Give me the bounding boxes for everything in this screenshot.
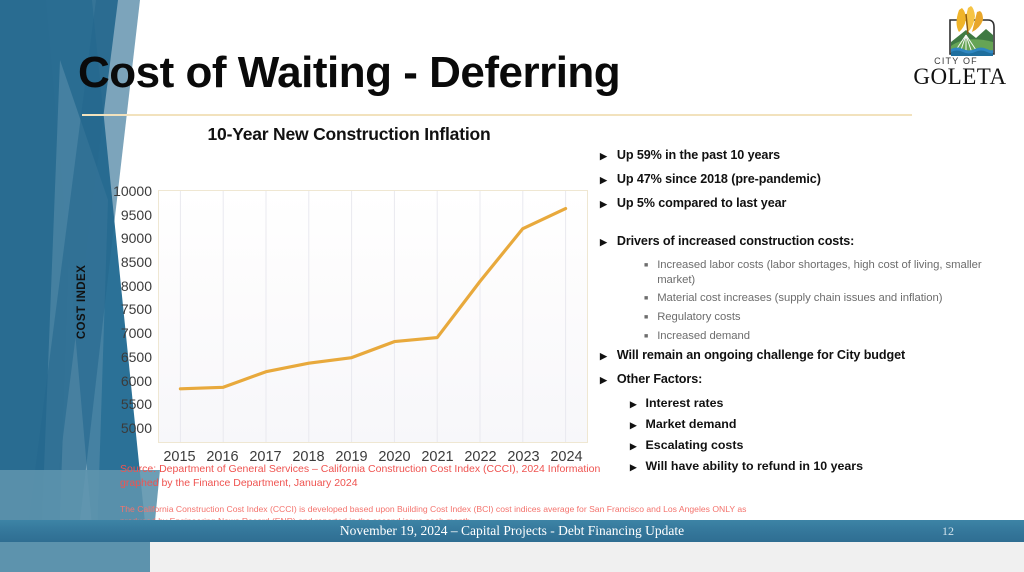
y-tick: 5000: [121, 420, 152, 436]
footer-title: November 19, 2024 – Capital Projects - D…: [0, 520, 1024, 542]
bullet-list: ▶ Up 59% in the past 10 years ▶ Up 47% s…: [600, 148, 1020, 480]
y-tick: 7000: [121, 325, 152, 341]
gridlines: [180, 191, 565, 442]
y-tick: 8500: [121, 254, 152, 270]
title-underline: [82, 114, 912, 116]
sub-bullet-text: Interest rates: [646, 396, 724, 410]
sub-bullet-text: Increased labor costs (labor shortages, …: [657, 258, 1020, 287]
sub-bullet-text: Regulatory costs: [657, 310, 740, 325]
y-tick: 6000: [121, 373, 152, 389]
triangle-bullet-icon: ▶: [600, 148, 607, 164]
bullet-item: ▶ Up 5% compared to last year: [600, 196, 1020, 212]
city-of-goleta-logo: CITY OF GOLETA: [904, 2, 1016, 90]
y-tick: 9000: [121, 230, 152, 246]
bullet-item-drivers-header: ▶ Drivers of increased construction cost…: [600, 234, 1020, 250]
sub-bullet-text: Increased demand: [657, 329, 750, 344]
square-bullet-icon: ■: [644, 291, 648, 306]
bullet-item: ▶ Up 47% since 2018 (pre-pandemic): [600, 172, 1020, 188]
series-line-cost-index: [180, 209, 565, 389]
bullet-text: Drivers of increased construction costs:: [617, 234, 854, 250]
sub-bullet-item: ■ Regulatory costs: [644, 310, 1020, 325]
bullet-text: Other Factors:: [617, 372, 702, 388]
sub-bullet-item: ▶ Escalating costs: [630, 438, 1020, 454]
bottom-strip: [0, 542, 1024, 572]
bullet-item: ▶ Up 59% in the past 10 years: [600, 148, 1020, 164]
sub-bullet-item: ▶ Market demand: [630, 417, 1020, 433]
sub-bullet-text: Material cost increases (supply chain is…: [657, 291, 942, 306]
page-title: Cost of Waiting - Deferring: [78, 48, 620, 98]
y-tick: 5500: [121, 396, 152, 412]
y-tick: 6500: [121, 349, 152, 365]
triangle-bullet-icon: ▶: [630, 438, 637, 454]
square-bullet-icon: ■: [644, 310, 648, 325]
bullet-item-other-header: ▶ Other Factors:: [600, 372, 1020, 388]
slide-content: CITY OF GOLETA Cost of Waiting - Deferri…: [0, 0, 1024, 572]
square-bullet-icon: ■: [644, 258, 648, 273]
chart-title: 10-Year New Construction Inflation: [104, 124, 594, 145]
plot-area: [158, 190, 588, 443]
square-bullet-icon: ■: [644, 329, 648, 344]
bullet-text: Up 59% in the past 10 years: [617, 148, 780, 164]
y-tick: 10000: [113, 183, 152, 199]
bullet-text: Up 5% compared to last year: [617, 196, 786, 212]
bullet-item-challenge: ▶ Will remain an ongoing challenge for C…: [600, 348, 1020, 364]
chart-source-note: Source: Department of General Services –…: [120, 462, 620, 490]
y-tick: 7500: [121, 301, 152, 317]
triangle-bullet-icon: ▶: [600, 372, 607, 388]
triangle-bullet-icon: ▶: [630, 459, 637, 475]
spacer: [600, 220, 1020, 234]
sub-bullet-item: ▶ Will have ability to refund in 10 year…: [630, 459, 1020, 475]
triangle-bullet-icon: ▶: [630, 396, 637, 412]
line-chart-svg: [159, 191, 587, 442]
sub-bullet-item: ■ Increased demand: [644, 329, 1020, 344]
logo-emblem: [950, 6, 994, 56]
triangle-bullet-icon: ▶: [600, 196, 607, 212]
triangle-bullet-icon: ▶: [600, 172, 607, 188]
sub-bullet-text: Will have ability to refund in 10 years: [646, 459, 863, 473]
y-tick: 9500: [121, 207, 152, 223]
sub-bullet-item: ■ Material cost increases (supply chain …: [644, 291, 1020, 306]
bullet-text: Will remain an ongoing challenge for Cit…: [617, 348, 905, 364]
chart-area: COST INDEX 10000 9500 9000 8500 8000 750…: [82, 152, 594, 452]
triangle-bullet-icon: ▶: [600, 348, 607, 364]
y-axis-ticks: 10000 9500 9000 8500 8000 7500 7000 6500…: [90, 183, 152, 436]
sub-bullet-item: ■ Increased labor costs (labor shortages…: [644, 258, 1020, 287]
logo-goleta-text: GOLETA: [913, 64, 1006, 89]
bullet-text: Up 47% since 2018 (pre-pandemic): [617, 172, 821, 188]
triangle-bullet-icon: ▶: [630, 417, 637, 433]
y-axis-label: COST INDEX: [76, 265, 88, 339]
bottom-left-tab: [0, 542, 150, 572]
triangle-bullet-icon: ▶: [600, 234, 607, 250]
chart-block: 10-Year New Construction Inflation COST …: [82, 124, 594, 454]
sub-bullet-text: Market demand: [646, 417, 737, 431]
y-tick: 8000: [121, 278, 152, 294]
sub-bullet-item: ▶ Interest rates: [630, 396, 1020, 412]
page-number: 12: [942, 520, 954, 542]
footer-bar: November 19, 2024 – Capital Projects - D…: [0, 520, 1024, 542]
sub-bullet-text: Escalating costs: [646, 438, 744, 452]
